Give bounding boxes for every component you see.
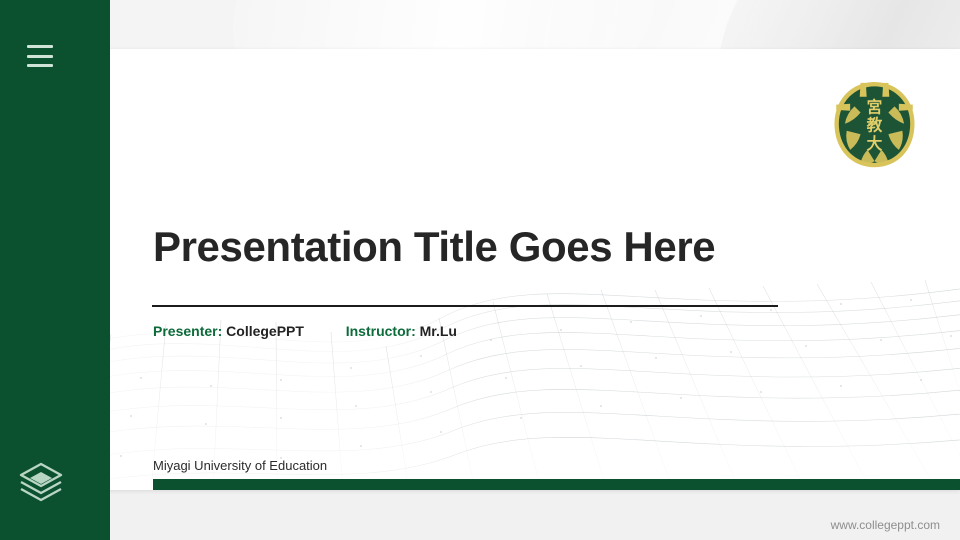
hamburger-line bbox=[27, 45, 53, 48]
website-url: www.collegeppt.com bbox=[831, 518, 940, 532]
instructor-label: Instructor: bbox=[346, 323, 416, 339]
organization-name: Miyagi University of Education bbox=[153, 458, 327, 473]
presenter-value: CollegePPT bbox=[226, 323, 304, 339]
page-title: Presentation Title Goes Here bbox=[153, 225, 893, 269]
instructor-value: Mr.Lu bbox=[420, 323, 457, 339]
university-seal-icon: 宮 教 大 bbox=[831, 80, 918, 171]
presenter-label: Presenter: bbox=[153, 323, 222, 339]
hamburger-line bbox=[27, 55, 53, 58]
layers-stack-icon[interactable] bbox=[16, 458, 66, 508]
slide-canvas[interactable]: 宮 教 大 Presentation Title Goes Here Prese… bbox=[81, 49, 960, 490]
presentation-viewer: 宮 教 大 Presentation Title Goes Here Prese… bbox=[0, 0, 960, 540]
seal-char-1: 宮 bbox=[867, 97, 883, 116]
presenter-meta-line: Presenter: CollegePPT Instructor: Mr.Lu bbox=[153, 323, 457, 339]
hamburger-line bbox=[27, 64, 53, 67]
hamburger-menu-icon[interactable] bbox=[27, 45, 53, 67]
bottom-strip bbox=[0, 484, 960, 540]
left-sidebar bbox=[0, 0, 110, 540]
footer-accent-bar bbox=[153, 479, 960, 490]
seal-char-2: 教 bbox=[867, 116, 883, 135]
wireframe-mesh-background bbox=[81, 260, 960, 490]
title-divider bbox=[152, 305, 778, 307]
seal-char-3: 大 bbox=[867, 134, 883, 153]
